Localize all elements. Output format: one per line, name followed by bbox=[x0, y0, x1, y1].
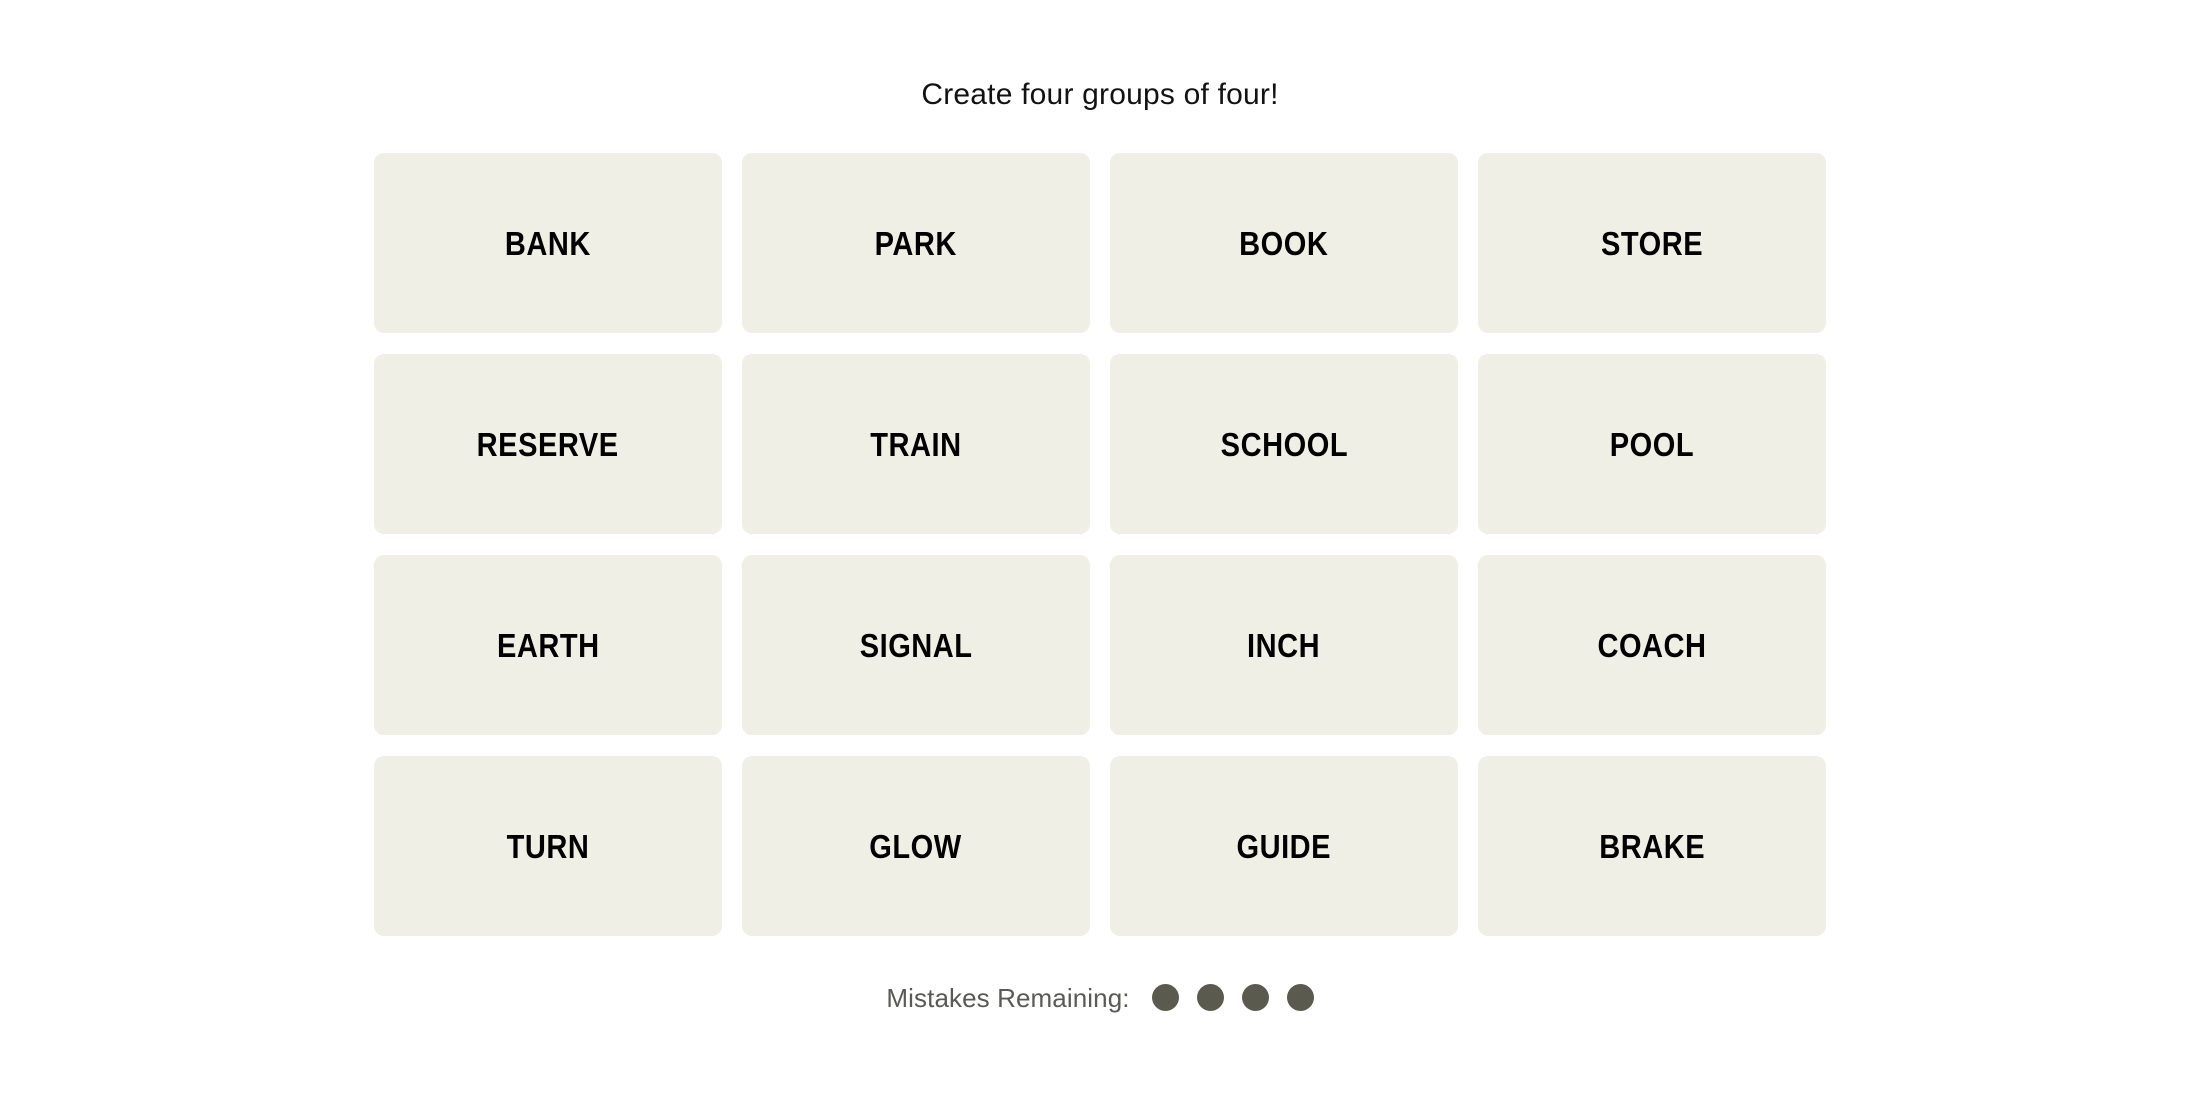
word-tile-label: SIGNAL bbox=[860, 629, 973, 662]
word-tile[interactable]: INCH bbox=[1110, 555, 1458, 735]
word-tile-label: POOL bbox=[1610, 428, 1694, 461]
mistakes-remaining-label: Mistakes Remaining: bbox=[886, 985, 1129, 1011]
word-tile[interactable]: TRAIN bbox=[742, 354, 1090, 534]
word-tile-label: BRAKE bbox=[1599, 830, 1705, 863]
word-tile[interactable]: COACH bbox=[1478, 555, 1826, 735]
word-tile[interactable]: TURN bbox=[374, 756, 722, 936]
word-tile-grid: BANKPARKBOOKSTORERESERVETRAINSCHOOLPOOLE… bbox=[374, 153, 1826, 936]
word-tile[interactable]: SCHOOL bbox=[1110, 354, 1458, 534]
word-tile[interactable]: RESERVE bbox=[374, 354, 722, 534]
mistakes-remaining-bar: Mistakes Remaining: bbox=[886, 984, 1313, 1011]
word-tile[interactable]: GUIDE bbox=[1110, 756, 1458, 936]
word-tile-label: RESERVE bbox=[477, 428, 619, 461]
word-tile-label: SCHOOL bbox=[1220, 428, 1347, 461]
word-tile-label: BOOK bbox=[1239, 227, 1328, 260]
word-tile[interactable]: SIGNAL bbox=[742, 555, 1090, 735]
mistakes-dots bbox=[1152, 984, 1314, 1011]
word-tile[interactable]: BANK bbox=[374, 153, 722, 333]
word-tile[interactable]: EARTH bbox=[374, 555, 722, 735]
word-tile-label: BANK bbox=[505, 227, 591, 260]
word-tile[interactable]: GLOW bbox=[742, 756, 1090, 936]
mistake-dot-icon bbox=[1152, 984, 1179, 1011]
word-tile[interactable]: POOL bbox=[1478, 354, 1826, 534]
word-tile-label: COACH bbox=[1597, 629, 1706, 662]
word-tile-label: GLOW bbox=[870, 830, 962, 863]
word-tile[interactable]: BRAKE bbox=[1478, 756, 1826, 936]
word-tile-label: GUIDE bbox=[1237, 830, 1332, 863]
mistake-dot-icon bbox=[1242, 984, 1269, 1011]
word-tile[interactable]: STORE bbox=[1478, 153, 1826, 333]
word-tile[interactable]: BOOK bbox=[1110, 153, 1458, 333]
page-title: Create four groups of four! bbox=[921, 80, 1278, 110]
word-tile-label: INCH bbox=[1247, 629, 1320, 662]
word-tile-label: PARK bbox=[875, 227, 957, 260]
connections-game: Create four groups of four! BANKPARKBOOK… bbox=[0, 0, 2200, 1100]
mistake-dot-icon bbox=[1287, 984, 1314, 1011]
word-tile-label: TRAIN bbox=[870, 428, 961, 461]
word-tile-label: EARTH bbox=[497, 629, 600, 662]
word-tile-label: STORE bbox=[1601, 227, 1703, 260]
mistake-dot-icon bbox=[1197, 984, 1224, 1011]
word-tile[interactable]: PARK bbox=[742, 153, 1090, 333]
word-tile-label: TURN bbox=[507, 830, 590, 863]
